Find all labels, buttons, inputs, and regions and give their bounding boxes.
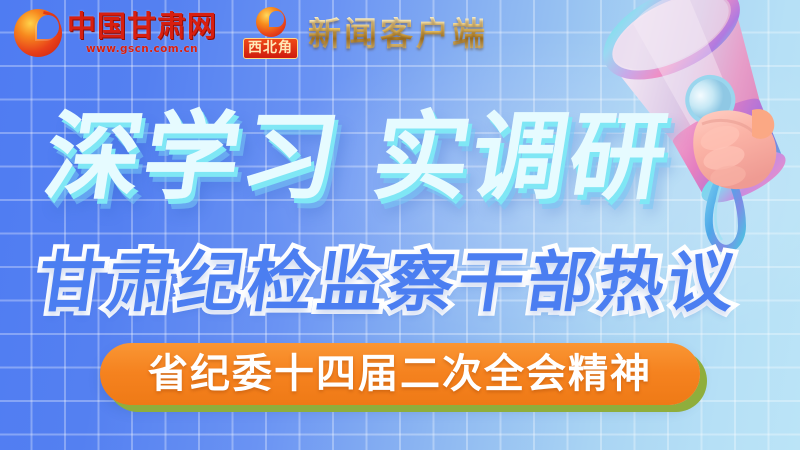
logo-gansu-net-url: www.gscn.com.cn — [86, 43, 198, 55]
headline-subhead: 甘肃纪检监察干部热议 — [38, 243, 778, 323]
headline-part2: 实调研 — [365, 101, 677, 213]
poster-canvas: 中国甘肃网 www.gscn.com.cn 西北角 新闻客户端 深学习实调研 甘… — [0, 0, 800, 450]
logo-news-client-label: 新闻客户端 — [308, 17, 488, 50]
logo-gansu-net[interactable]: 中国甘肃网 www.gscn.com.cn — [14, 9, 217, 57]
headline-part1: 深学习 — [37, 101, 349, 213]
banner-pill-text: 省纪委十四届二次全会精神 — [148, 354, 652, 394]
banner-pill[interactable]: 省纪委十四届二次全会精神 — [100, 343, 700, 405]
logo-xibeijiao-seal: 西北角 — [243, 38, 298, 58]
logo-news-client[interactable]: 西北角 新闻客户端 — [243, 7, 488, 58]
headline-primary: 深学习实调研 — [46, 96, 766, 218]
site-header: 中国甘肃网 www.gscn.com.cn 西北角 新闻客户端 — [0, 0, 800, 66]
logo-gansu-net-label: 中国甘肃网 — [67, 12, 217, 41]
xibeijiao-swoosh-logo-icon — [256, 7, 286, 37]
headline-primary-text: 深学习实调研 — [38, 109, 675, 205]
headline-subhead-text: 甘肃纪检监察干部热议 — [33, 250, 742, 316]
gansu-swoosh-logo-icon — [14, 9, 62, 57]
